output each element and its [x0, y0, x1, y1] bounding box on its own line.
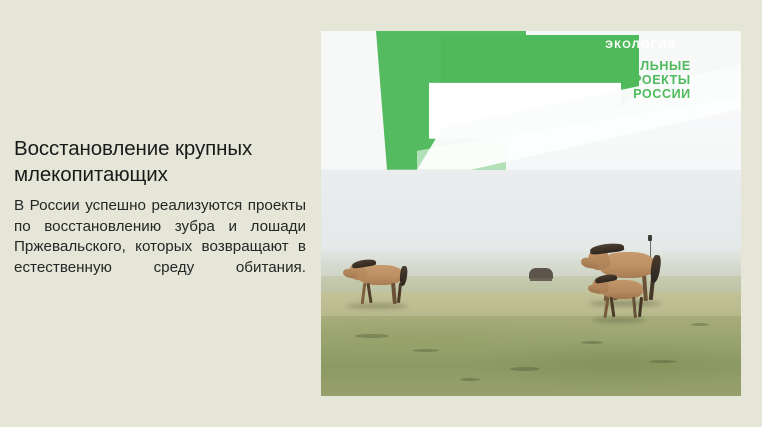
ground-texture — [510, 367, 540, 371]
horse-left — [342, 257, 418, 307]
horse-right-foal — [588, 272, 658, 322]
ground-texture — [691, 323, 709, 326]
horse-leg — [609, 297, 615, 317]
horse-head — [342, 268, 358, 279]
horse-head — [587, 284, 601, 294]
horse-leg — [638, 297, 643, 317]
horse-leg — [391, 283, 396, 304]
ground-texture — [460, 378, 480, 381]
body-paragraph: В России успешно реализуются проекты по … — [14, 196, 306, 299]
horse-leg — [603, 297, 609, 318]
presentation-slide: Восстановление крупных млекопитающих В Р… — [0, 0, 762, 427]
ground-texture — [413, 349, 439, 352]
ground-region — [321, 316, 741, 396]
ground-texture — [649, 360, 677, 363]
horse-leg — [632, 297, 637, 318]
horse-leg — [361, 283, 367, 304]
horse-tail — [399, 266, 408, 287]
page-title: Восстановление крупных млекопитающих — [14, 136, 306, 188]
sky-region — [321, 31, 741, 276]
horse-leg — [397, 283, 402, 303]
text-column: Восстановление крупных млекопитающих В Р… — [14, 136, 306, 299]
ground-texture — [355, 334, 389, 338]
horse-shadow — [592, 317, 646, 323]
photo-image: ЭКОЛОГИЯ НАЦИОНАЛЬНЫЕ ПРОЕКТЫ РОССИИ — [321, 31, 741, 396]
horse-leg — [366, 283, 372, 303]
yurt-structure — [529, 268, 553, 279]
